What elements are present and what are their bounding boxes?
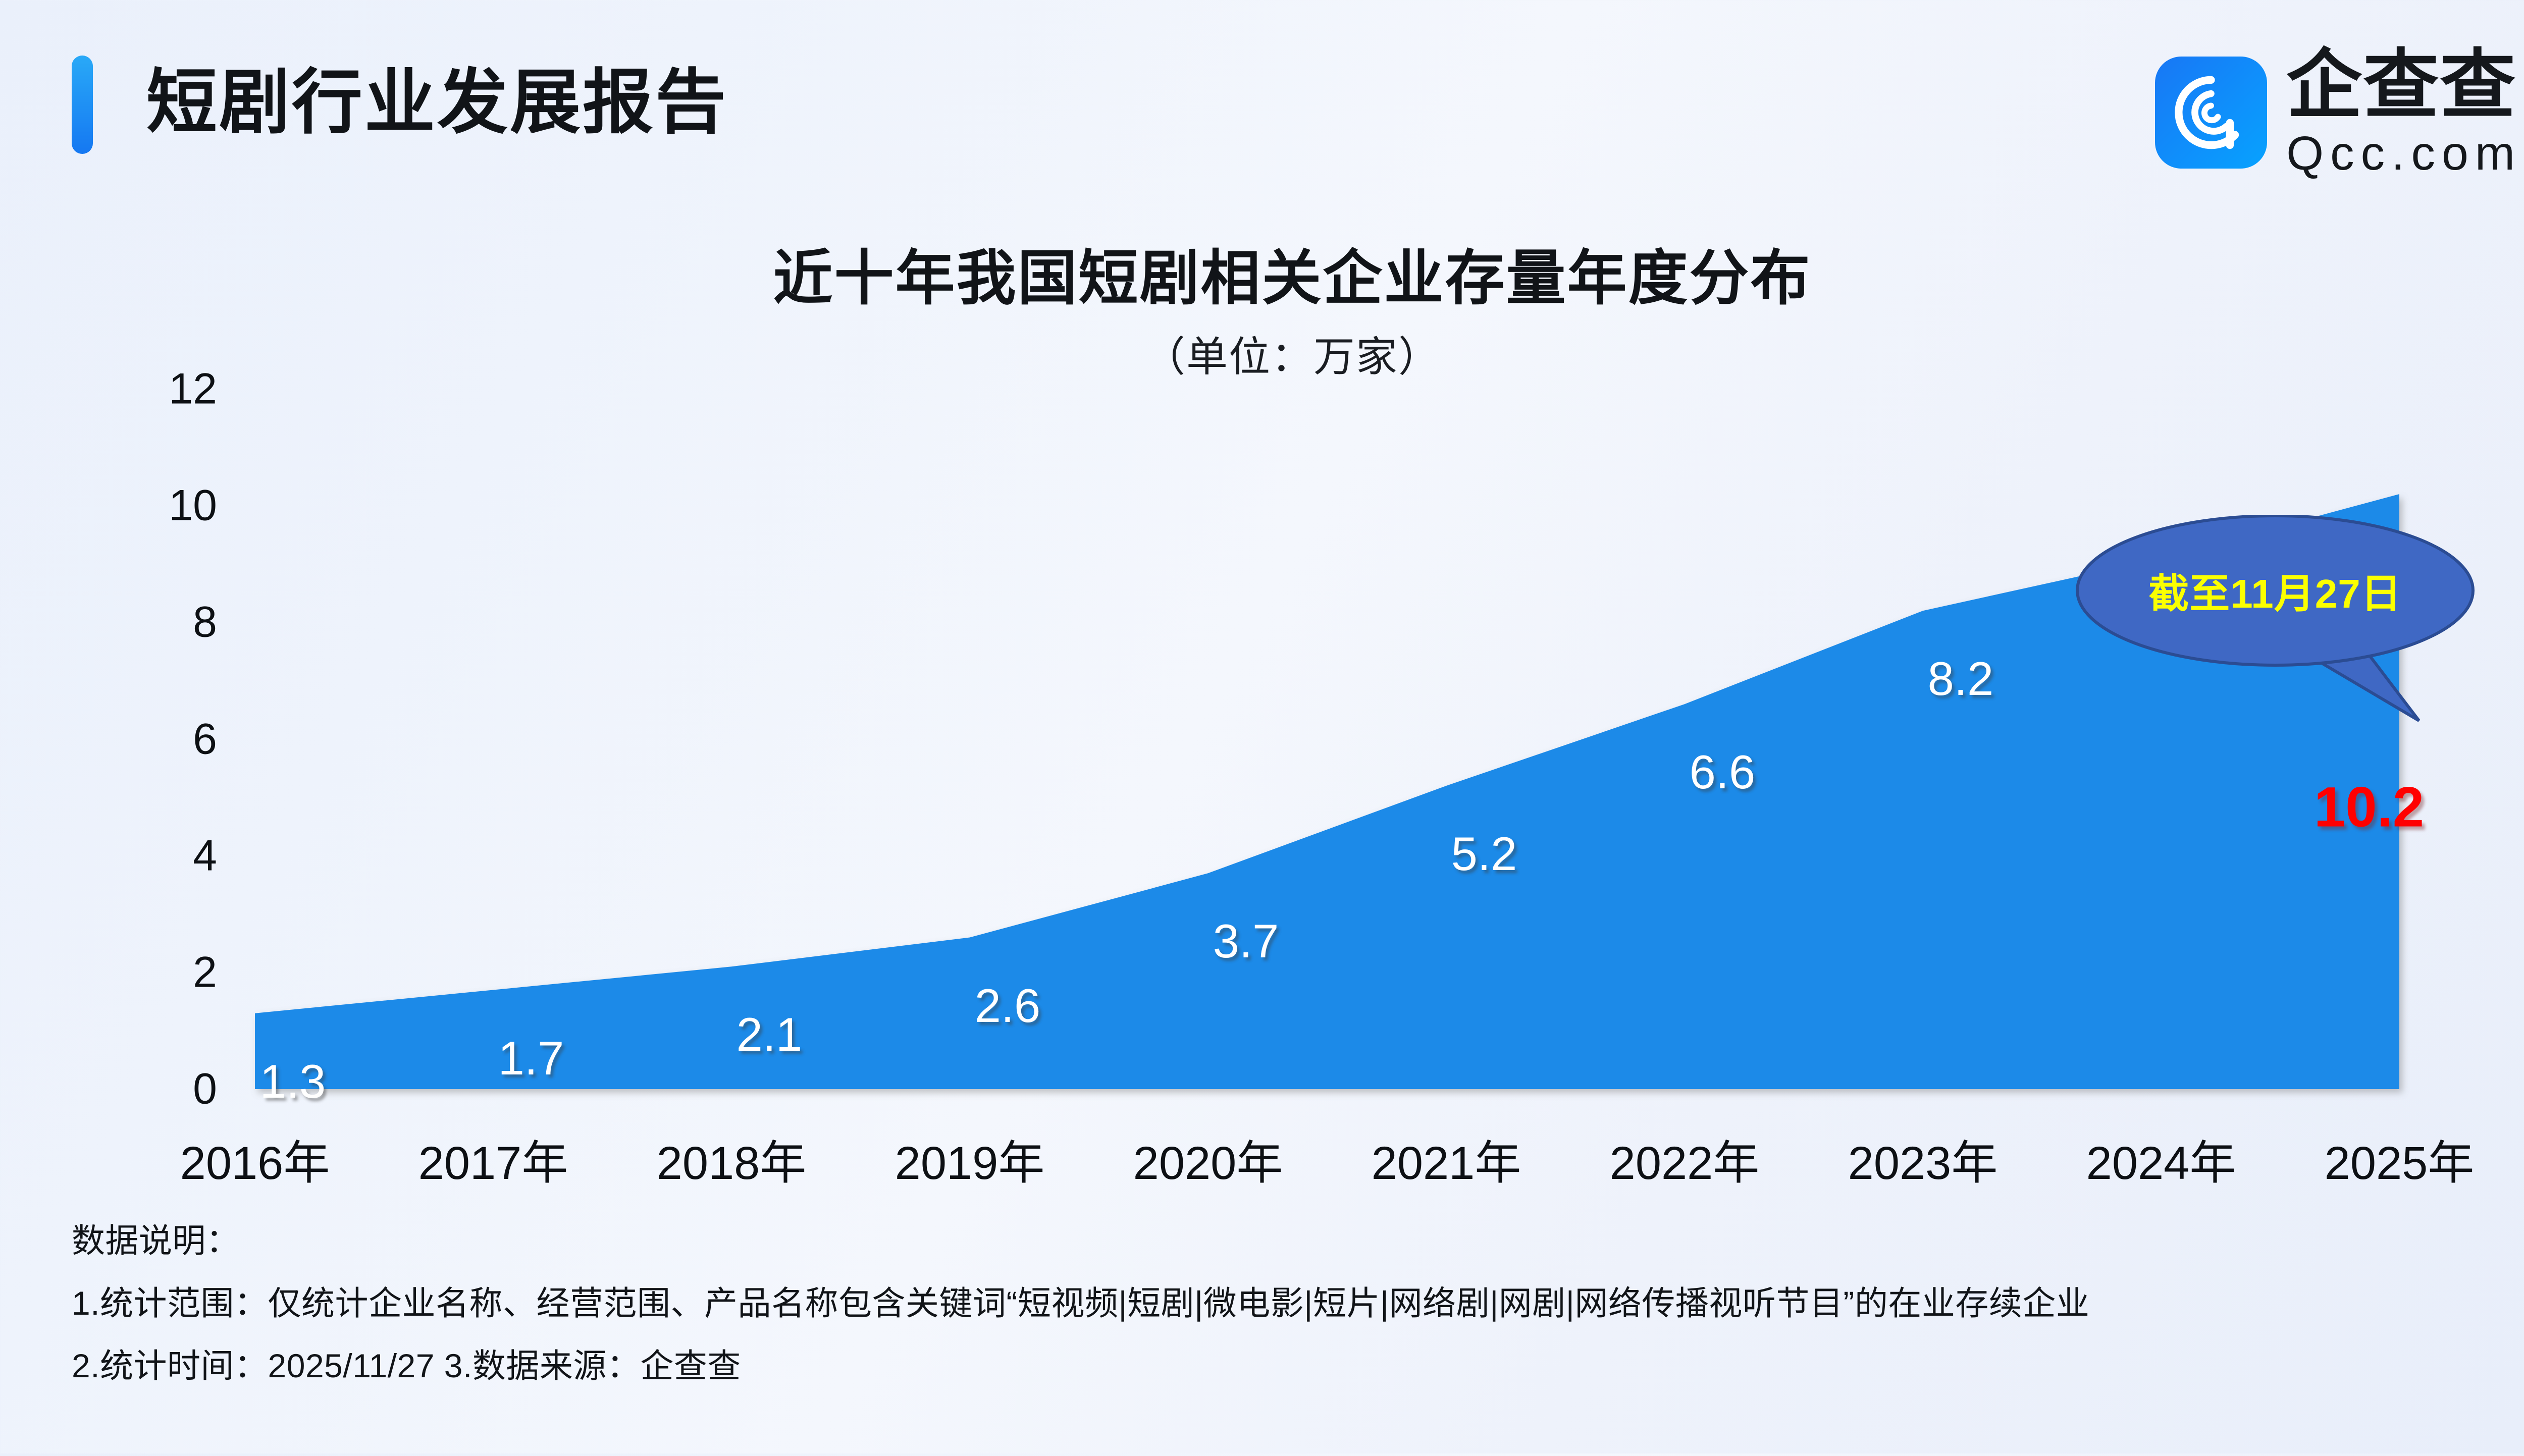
footer-notes: 数据说明： 1.统计范围：仅统计企业名称、经营范围、产品名称包含关键词“短视频|… bbox=[72, 1224, 2520, 1382]
y-axis-tick-label: 6 bbox=[111, 714, 217, 764]
annotation-text: 截至11月27日 bbox=[2076, 515, 2475, 666]
data-point-label: 1.3 bbox=[260, 1054, 326, 1109]
data-point-label: 6.6 bbox=[1690, 745, 1756, 799]
x-axis-tick-label: 2018年 bbox=[657, 1125, 807, 1193]
annotation-callout: 截至11月27日 bbox=[2076, 515, 2475, 722]
data-point-label: 1.7 bbox=[498, 1031, 564, 1086]
y-axis-tick-label: 4 bbox=[111, 831, 217, 881]
data-point-label: 2.1 bbox=[737, 1007, 803, 1062]
note-statistics-time-source: 2.统计时间：2025/11/27 3.数据来源：企查查 bbox=[72, 1349, 2520, 1382]
y-axis-tick-label: 10 bbox=[111, 481, 217, 531]
x-axis-tick-label: 2021年 bbox=[1372, 1125, 1521, 1193]
data-point-label: 5.2 bbox=[1451, 827, 1517, 881]
note-statistics-scope: 1.统计范围：仅统计企业名称、经营范围、产品名称包含关键词“短视频|短剧|微电影… bbox=[72, 1286, 2520, 1320]
x-axis-tick-label: 2019年 bbox=[895, 1125, 1045, 1193]
y-axis-tick-label: 12 bbox=[111, 364, 217, 414]
y-axis-tick-label: 0 bbox=[111, 1064, 217, 1114]
x-axis-tick-label: 2016年 bbox=[180, 1125, 330, 1193]
x-axis-tick-label: 2025年 bbox=[2325, 1125, 2475, 1193]
data-point-label: 8.2 bbox=[1928, 652, 1994, 706]
y-axis-tick-label: 2 bbox=[111, 947, 217, 997]
data-point-label: 2.6 bbox=[975, 979, 1041, 1033]
x-axis-tick-label: 2023年 bbox=[1848, 1125, 1998, 1193]
y-axis-tick-label: 8 bbox=[111, 598, 217, 648]
x-axis-tick-label: 2024年 bbox=[2086, 1125, 2236, 1193]
data-point-label: 3.7 bbox=[1213, 914, 1279, 968]
x-axis-tick-label: 2022年 bbox=[1610, 1125, 1760, 1193]
data-point-label: 10.2 bbox=[2314, 775, 2424, 840]
x-axis-tick-label: 2020年 bbox=[1133, 1125, 1283, 1193]
notes-heading: 数据说明： bbox=[72, 1224, 2520, 1257]
x-axis-tick-label: 2017年 bbox=[418, 1125, 568, 1193]
